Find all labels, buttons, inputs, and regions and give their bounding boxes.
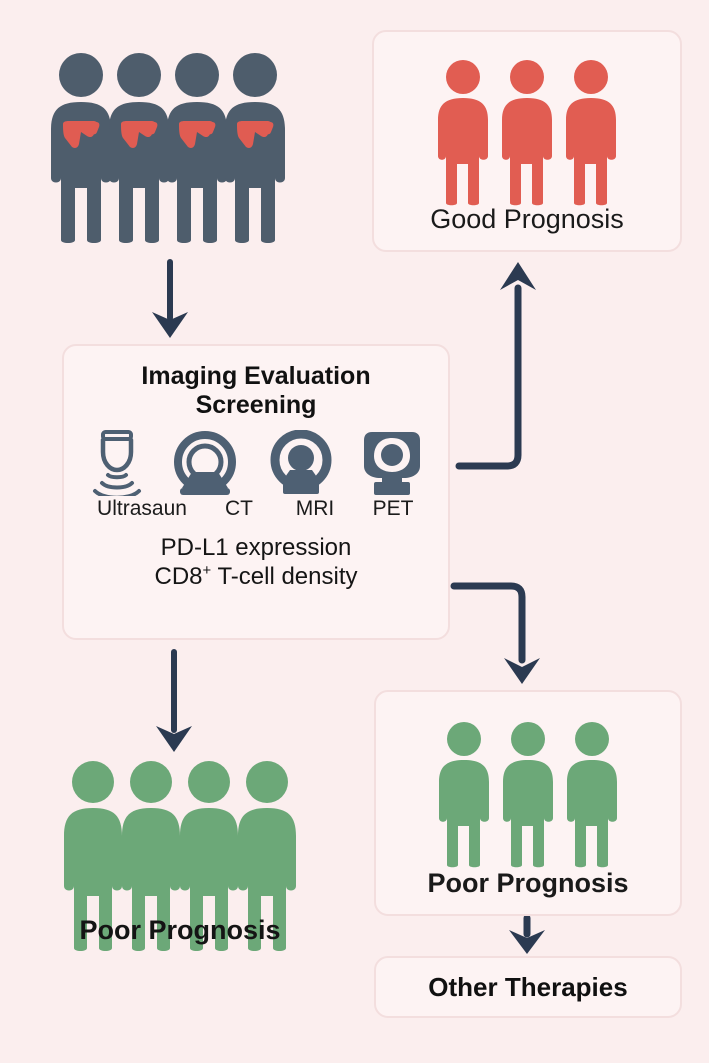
modality-label-pet: PET — [356, 497, 430, 521]
modality-label-ultrasound: Ultrasaun — [82, 497, 202, 521]
ultrasound-icon — [90, 430, 144, 496]
patient-figure-with-liver — [219, 48, 291, 244]
screening-title-line2: Screening — [64, 391, 448, 420]
biomarker-cd8: CD8+ T-cell density — [64, 562, 448, 591]
other-therapies-label: Other Therapies — [376, 958, 680, 1016]
biomarker-cd8-prefix: CD8 — [155, 563, 203, 590]
imaging-screening-panel[interactable]: Imaging Evaluation Screening — [62, 344, 450, 640]
patient-cohort-group — [40, 48, 296, 244]
poor-prognosis-left-label: Poor Prognosis — [40, 916, 320, 960]
modality-label-ct: CT — [204, 497, 274, 521]
arrow-screening-to-poor-prognosis-left — [156, 652, 192, 752]
modality-label-mri: MRI — [276, 497, 354, 521]
good-prognosis-label: Good Prognosis — [374, 204, 680, 235]
biomarker-pdl1: PD-L1 expression — [64, 533, 448, 562]
modality-label-row: Ultrasaun CT MRI PET — [64, 496, 448, 521]
person-figure-green — [497, 718, 559, 868]
biomarker-cd8-superscript: + — [203, 563, 212, 579]
arrow-cohort-to-screening — [152, 262, 188, 338]
person-figure-red — [432, 56, 494, 206]
person-figure-green — [433, 718, 495, 868]
poor-prognosis-right-label: Poor Prognosis — [376, 868, 680, 899]
poor-prognosis-right-panel[interactable]: Poor Prognosis — [374, 690, 682, 916]
person-figure-red — [560, 56, 622, 206]
biomarker-list: PD-L1 expression CD8+ T-cell density — [64, 533, 448, 592]
ct-scanner-icon — [170, 430, 240, 496]
biomarker-cd8-suffix: T-cell density — [211, 563, 357, 590]
person-figure-green — [561, 718, 623, 868]
mri-scanner-icon — [266, 430, 336, 496]
screening-title-line1: Imaging Evaluation — [64, 362, 448, 391]
arrow-poor-prognosis-to-other-therapies — [509, 918, 545, 954]
arrow-screening-to-poor-prognosis-right — [454, 586, 540, 684]
other-therapies-panel[interactable]: Other Therapies — [374, 956, 682, 1018]
screening-title: Imaging Evaluation Screening — [64, 362, 448, 420]
pet-scanner-icon — [362, 430, 422, 496]
modality-icon-row — [64, 420, 448, 496]
good-prognosis-panel[interactable]: Good Prognosis — [372, 30, 682, 252]
person-figure-red — [496, 56, 558, 206]
diagram-canvas: Good Prognosis Imaging Evaluation Screen… — [0, 0, 709, 1063]
arrow-screening-to-good-prognosis — [459, 262, 536, 466]
